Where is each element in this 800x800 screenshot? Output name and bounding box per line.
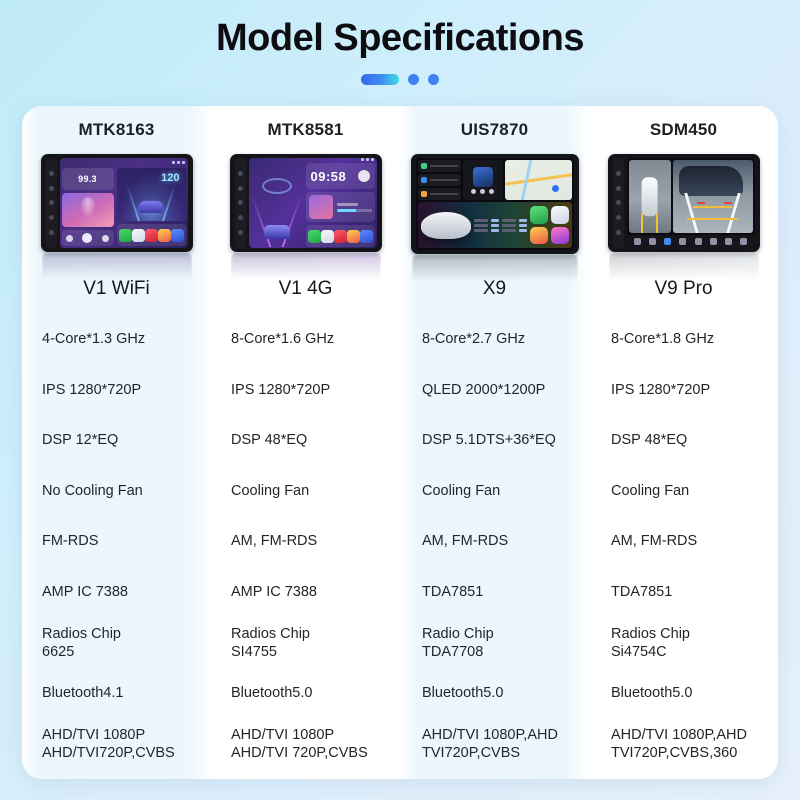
device-side-rail — [613, 158, 624, 248]
rail-icon-power — [616, 230, 621, 235]
page-header: Model Specifications — [0, 0, 800, 86]
next-track-icon — [489, 189, 494, 194]
screen-bottom-row — [418, 202, 572, 248]
maps-icon — [347, 230, 360, 243]
stat-value-line — [519, 229, 527, 232]
spec-row-bluetooth: Bluetooth5.0 — [211, 668, 400, 719]
spec-row-cooling: Cooling Fan — [589, 466, 778, 517]
rail-icon-apps — [49, 200, 54, 205]
rail-icon-apps — [616, 200, 621, 205]
spec-row-radio-band: AM, FM-RDS — [400, 516, 589, 567]
snapshot-icon — [725, 238, 732, 245]
spec-column-mtk8581: MTK8581 — [211, 106, 400, 779]
rear-camera-icon — [695, 238, 702, 245]
spec-row-dsp: DSP 12*EQ — [22, 415, 211, 466]
spec-list: 8-Core*2.7 GHz QLED 2000*1200P DSP 5.1DT… — [400, 306, 589, 779]
device-screen — [416, 158, 574, 250]
model-name: V9 Pro — [589, 278, 778, 300]
camera-toolbar — [627, 235, 755, 248]
map-pin-icon — [552, 185, 559, 192]
guideline-red-left — [697, 202, 705, 204]
car-link-icon — [421, 177, 427, 183]
widget-label-line — [430, 179, 458, 181]
left-camera-icon — [649, 238, 656, 245]
screen-statusbar — [60, 158, 188, 166]
spec-row-camera: AHD/TVI 1080P,AHD TVI720P,CVBS — [400, 719, 589, 770]
record-icon — [710, 238, 717, 245]
media-widget — [306, 192, 375, 222]
track-title-line — [337, 203, 358, 206]
spec-row-bluetooth: Bluetooth5.0 — [400, 668, 589, 719]
spec-row-camera: AHD/TVI 1080P AHD/TVI 720P,CVBS — [211, 719, 400, 770]
top-down-view — [629, 160, 671, 233]
guideline-yellow-near — [693, 206, 731, 208]
rail-icon-apps — [238, 200, 243, 205]
device-screen: 09:58 — [249, 158, 377, 248]
tunnel-ring — [262, 178, 292, 194]
rail-icon-home — [49, 171, 54, 176]
rail-icon-volume — [49, 215, 54, 220]
maps-icon — [158, 229, 171, 242]
spec-row-radio-chip: Radios Chip SI4755 — [211, 617, 400, 668]
car-graphic-top-down — [641, 177, 658, 216]
carousel-indicator-dot-3[interactable] — [428, 74, 439, 85]
device-side-rail — [235, 158, 246, 248]
model-name: V1 WiFi — [22, 278, 211, 300]
sunny-icon — [358, 170, 370, 182]
car-graphic-rear — [679, 166, 743, 197]
device-preview-x9: X9 — [400, 154, 589, 306]
device-preview-v1-4g: 09:58 — [211, 154, 400, 306]
carousel-indicator[interactable] — [0, 74, 800, 86]
map-road-primary — [505, 173, 572, 187]
spec-row-amp: TDA7851 — [400, 567, 589, 618]
stat-label-line — [474, 229, 488, 232]
widget-list — [418, 160, 461, 200]
rail-icon-volume — [238, 215, 243, 220]
clock-time: 09:58 — [311, 169, 347, 184]
radio-frequency-tile: 99.3 — [62, 168, 114, 190]
rail-icon-back — [238, 186, 243, 191]
app-dock — [530, 206, 568, 244]
previous-track-icon — [471, 189, 476, 194]
right-camera-icon — [679, 238, 686, 245]
car-graphic — [139, 201, 163, 213]
stat-label-line — [502, 219, 516, 222]
progress-line — [337, 209, 372, 212]
rail-icon-power — [238, 230, 243, 235]
spec-row-radio-chip: Radios Chip 6625 — [22, 617, 211, 668]
device-unit — [608, 154, 760, 252]
device-bezel — [608, 154, 760, 252]
spec-row-radio-chip: Radio Chip TDA7708 — [400, 617, 589, 668]
spec-column-uis7870: UIS7870 — [400, 106, 589, 779]
spec-row-cooling: No Cooling Fan — [22, 466, 211, 517]
rail-icon-back — [616, 186, 621, 191]
page-title: Model Specifications — [0, 18, 800, 60]
tunnel-streak-right — [282, 195, 303, 247]
screen-right-pane: 120 — [117, 168, 186, 246]
device-bezel: 99.3 — [41, 154, 193, 252]
column-header-chipset: MTK8163 — [22, 106, 211, 154]
spec-row-bluetooth: Bluetooth5.0 — [589, 668, 778, 719]
rail-icon-volume — [616, 215, 621, 220]
previous-track-icon — [66, 235, 73, 242]
spec-row-bluetooth: Bluetooth4.1 — [22, 668, 211, 719]
screen-left-pane: 99.3 — [62, 168, 114, 246]
device-side-rail — [46, 158, 57, 248]
airplay-icon — [171, 229, 184, 242]
battery-icon — [182, 161, 185, 164]
device-screen — [627, 158, 755, 248]
maps-icon — [530, 227, 548, 245]
column-header-chipset: UIS7870 — [400, 106, 589, 154]
specifications-card: MTK8163 — [22, 106, 778, 779]
airplay-icon — [360, 230, 373, 243]
widget-label-line — [430, 193, 458, 195]
spec-row-cpu: 8-Core*2.7 GHz — [400, 314, 589, 365]
spec-row-display: QLED 2000*1200P — [400, 365, 589, 416]
tunnel-streak-left — [251, 195, 272, 247]
stat-label-line — [502, 224, 516, 227]
device-preview-v9-pro: V9 Pro — [589, 154, 778, 306]
spec-row-display: IPS 1280*720P — [22, 365, 211, 416]
stat-value-line — [491, 224, 499, 227]
album-art — [62, 193, 114, 227]
app-dock — [306, 225, 375, 247]
spec-row-amp: AMP IC 7388 — [22, 567, 211, 618]
app-dock — [117, 224, 186, 246]
rail-icon-home — [238, 171, 243, 176]
guideline-left — [641, 213, 643, 233]
speed-value: 120 — [161, 172, 179, 184]
spec-row-amp: TDA7851 — [589, 567, 778, 618]
screen-body: 09:58 — [249, 161, 377, 248]
music-icon — [334, 230, 347, 243]
bluetooth-widget — [418, 160, 461, 172]
stat-label-line — [474, 219, 488, 222]
clock-widget: 09:58 — [306, 163, 375, 189]
camera-views — [627, 158, 755, 235]
carousel-indicator-active-pill[interactable] — [361, 74, 399, 85]
auto-icon — [321, 230, 334, 243]
spec-row-display: IPS 1280*720P — [211, 365, 400, 416]
spec-row-cooling: Cooling Fan — [211, 466, 400, 517]
stat-value-line — [491, 229, 499, 232]
signal-icon — [172, 161, 175, 164]
device-unit — [411, 154, 579, 254]
device-preview-v1-wifi: 99.3 — [22, 154, 211, 306]
stat-row — [474, 224, 527, 227]
widget-label-line — [430, 165, 458, 167]
map-widget — [505, 160, 572, 200]
car-graphic — [421, 212, 471, 239]
vehicle-stats — [474, 219, 527, 232]
auto-icon — [132, 229, 145, 242]
media-transport-controls — [471, 189, 494, 194]
stat-value-line — [519, 219, 527, 222]
spec-row-dsp: DSP 5.1DTS+36*EQ — [400, 415, 589, 466]
tunnel-visualizer — [251, 163, 303, 247]
device-bezel — [411, 154, 579, 254]
spec-row-cpu: 8-Core*1.6 GHz — [211, 314, 400, 365]
recorder-widget — [418, 188, 461, 200]
rail-icon-back — [49, 186, 54, 191]
next-track-icon — [102, 235, 109, 242]
play-pause-icon — [82, 233, 92, 243]
device-bezel: 09:58 — [230, 154, 382, 252]
car-link-widget — [418, 174, 461, 186]
spec-row-camera: AHD/TVI 1080P AHD/TVI720P,CVBS — [22, 719, 211, 770]
spec-column-sdm450: SDM450 — [589, 106, 778, 779]
spec-row-cpu: 4-Core*1.3 GHz — [22, 314, 211, 365]
music-icon — [145, 229, 158, 242]
rail-icon-power — [49, 230, 54, 235]
spec-row-radio-chip: Radios Chip Si4754C — [589, 617, 778, 668]
rear-camera-view — [673, 160, 753, 233]
auto-icon — [551, 206, 569, 224]
model-name: V1 4G — [211, 278, 400, 300]
stat-label-line — [474, 224, 488, 227]
spec-row-dsp: DSP 48*EQ — [589, 415, 778, 466]
model-name: X9 — [400, 278, 589, 300]
carplay-icon — [530, 206, 548, 224]
stat-value-line — [491, 219, 499, 222]
spec-column-mtk8163: MTK8163 — [22, 106, 211, 779]
media-transport-controls — [62, 230, 114, 246]
spec-row-amp: AMP IC 7388 — [211, 567, 400, 618]
road-line-left — [126, 184, 140, 221]
spec-row-cooling: Cooling Fan — [400, 466, 589, 517]
spec-row-radio-band: AM, FM-RDS — [589, 516, 778, 567]
front-camera-icon — [634, 238, 641, 245]
road-line-right — [162, 184, 176, 221]
bluetooth-icon — [421, 163, 427, 169]
car-graphic — [264, 225, 290, 239]
carousel-indicator-dot-2[interactable] — [408, 74, 419, 85]
carplay-icon — [308, 230, 321, 243]
lane-line-right — [726, 193, 741, 233]
spec-list: 8-Core*1.6 GHz IPS 1280*720P DSP 48*EQ C… — [211, 306, 400, 779]
screen-right-pane: 09:58 — [306, 163, 375, 247]
spec-row-camera: AHD/TVI 1080P,AHD TVI720P,CVBS,360 — [589, 719, 778, 770]
assistant-icon — [551, 227, 569, 245]
rail-icon-home — [616, 171, 621, 176]
device-unit: 09:58 — [230, 154, 382, 252]
stat-label-line — [502, 229, 516, 232]
spec-row-dsp: DSP 48*EQ — [211, 415, 400, 466]
stat-value-line — [519, 224, 527, 227]
spec-row-display: IPS 1280*720P — [589, 365, 778, 416]
device-screen: 99.3 — [60, 158, 188, 248]
recorder-icon — [421, 191, 427, 197]
carplay-icon — [119, 229, 132, 242]
guideline-right — [656, 213, 658, 233]
device-unit: 99.3 — [41, 154, 193, 252]
column-header-chipset: MTK8581 — [211, 106, 400, 154]
guideline-yellow-far — [687, 218, 738, 220]
media-widget — [463, 160, 503, 200]
stat-row — [474, 229, 527, 232]
wifi-icon — [177, 161, 180, 164]
media-meta — [337, 203, 372, 212]
screen-top-row — [418, 160, 572, 200]
settings-icon — [740, 238, 747, 245]
album-art — [309, 195, 333, 219]
selected-view-icon — [664, 238, 671, 245]
speedometer-widget: 120 — [117, 168, 186, 221]
play-pause-icon — [480, 189, 485, 194]
lane-line-left — [684, 193, 699, 233]
spec-list: 4-Core*1.3 GHz IPS 1280*720P DSP 12*EQ N… — [22, 306, 211, 779]
album-art — [473, 167, 493, 187]
spec-row-radio-band: FM-RDS — [22, 516, 211, 567]
spec-list: 8-Core*1.8 GHz IPS 1280*720P DSP 48*EQ C… — [589, 306, 778, 779]
spec-row-cpu: 8-Core*1.8 GHz — [589, 314, 778, 365]
stat-row — [474, 219, 527, 222]
spec-row-radio-band: AM, FM-RDS — [211, 516, 400, 567]
screen-body: 99.3 — [60, 166, 188, 248]
guideline-red-right — [724, 202, 732, 204]
column-header-chipset: SDM450 — [589, 106, 778, 154]
